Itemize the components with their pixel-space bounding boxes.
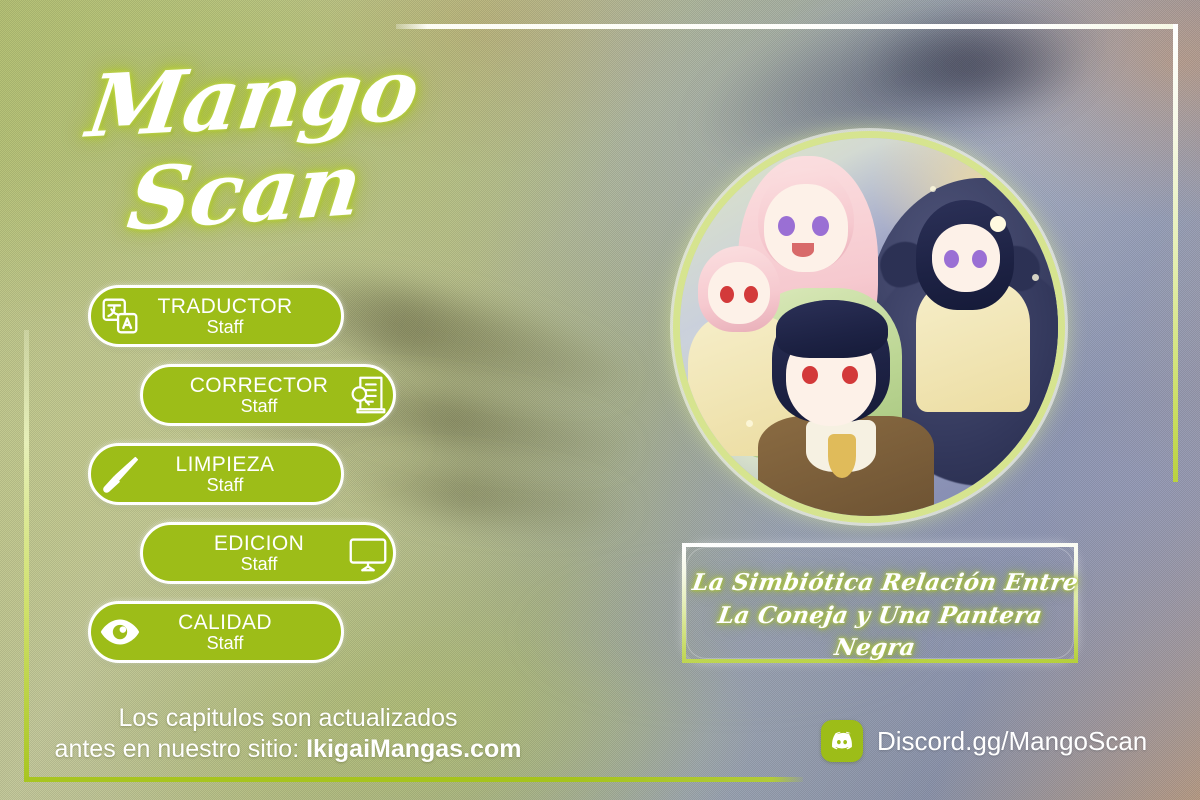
face bbox=[764, 184, 848, 272]
role-subtitle: Staff bbox=[115, 634, 335, 653]
sparkle bbox=[1048, 406, 1056, 414]
role-pill-limpieza[interactable]: LIMPIEZA Staff bbox=[88, 443, 344, 505]
hair-fringe bbox=[776, 300, 888, 358]
role-pill-text: TRADUCTOR Staff bbox=[113, 296, 337, 336]
role-pill-traductor[interactable]: TRADUCTOR Staff bbox=[88, 285, 344, 347]
role-subtitle: Staff bbox=[115, 318, 335, 337]
eye bbox=[720, 286, 734, 303]
discord-handle[interactable]: Discord.gg/MangoScan bbox=[877, 726, 1147, 757]
eye bbox=[842, 366, 858, 384]
monitor-icon bbox=[345, 530, 391, 576]
proofread-document-icon bbox=[345, 372, 391, 418]
brand-logo-line-2: Scan bbox=[123, 142, 365, 244]
role-pill-text: LIMPIEZA Staff bbox=[113, 454, 337, 494]
artwork-layer bbox=[680, 138, 1058, 516]
role-pill-calidad[interactable]: CALIDAD Staff bbox=[88, 601, 344, 663]
sparkle bbox=[930, 186, 936, 192]
sparkle bbox=[980, 164, 989, 173]
staff-role-list: TRADUCTOR Staff CORRECTOR Staff bbox=[0, 285, 470, 680]
eye bbox=[944, 250, 959, 268]
hair-flower bbox=[990, 216, 1006, 232]
translate-icon bbox=[97, 293, 143, 339]
role-pill-text: EDICION Staff bbox=[147, 533, 371, 573]
credits-page: Mango Scan TRADUCTOR Staff CORRECTOR Sta bbox=[0, 0, 1200, 800]
eye-icon bbox=[97, 609, 143, 655]
sparkle bbox=[1032, 274, 1039, 281]
notice-line-2: antes en nuestro sitio: IkigaiMangas.com bbox=[48, 734, 528, 765]
face bbox=[708, 262, 770, 324]
role-subtitle: Staff bbox=[115, 476, 335, 495]
role-subtitle: Staff bbox=[149, 397, 369, 416]
brand-logo: Mango Scan bbox=[52, 38, 452, 228]
eye bbox=[802, 366, 818, 384]
sparkle bbox=[746, 420, 753, 427]
role-title: CORRECTOR bbox=[149, 375, 369, 397]
role-subtitle: Staff bbox=[149, 555, 369, 574]
series-cover-artwork bbox=[673, 131, 1065, 523]
eye bbox=[778, 216, 795, 236]
discord-icon bbox=[821, 720, 863, 762]
eye bbox=[744, 286, 758, 303]
role-title: CALIDAD bbox=[115, 612, 335, 634]
discord-link[interactable]: Discord.gg/MangoScan bbox=[821, 720, 1147, 762]
necktie bbox=[828, 434, 856, 478]
role-title: EDICION bbox=[149, 533, 369, 555]
eye bbox=[812, 216, 829, 236]
eye bbox=[972, 250, 987, 268]
role-pill-text: CALIDAD Staff bbox=[113, 612, 337, 652]
site-update-notice: Los capitulos son actualizados antes en … bbox=[48, 703, 528, 765]
site-url[interactable]: IkigaiMangas.com bbox=[306, 735, 521, 763]
role-title: TRADUCTOR bbox=[115, 296, 335, 318]
brand-logo-line-1: Mango bbox=[82, 48, 423, 151]
mouth bbox=[792, 243, 814, 257]
series-title-line-2: La Coneja y Una Pantera Negra bbox=[716, 602, 1044, 662]
role-title: LIMPIEZA bbox=[115, 454, 335, 476]
role-pill-text: CORRECTOR Staff bbox=[147, 375, 371, 415]
notice-line-1: Los capitulos son actualizados bbox=[48, 703, 528, 734]
paintbrush-icon bbox=[97, 451, 143, 497]
series-title-panel: La Simbiótica Relación Entre La Coneja y… bbox=[682, 543, 1078, 663]
role-pill-corrector[interactable]: CORRECTOR Staff bbox=[140, 364, 396, 426]
series-title: La Simbiótica Relación Entre La Coneja y… bbox=[678, 567, 1082, 665]
notice-line-2-prefix: antes en nuestro sitio: bbox=[55, 735, 307, 763]
series-title-line-1: La Simbiótica Relación Entre bbox=[690, 569, 1080, 596]
role-pill-edicion[interactable]: EDICION Staff bbox=[140, 522, 396, 584]
face bbox=[932, 224, 1000, 292]
